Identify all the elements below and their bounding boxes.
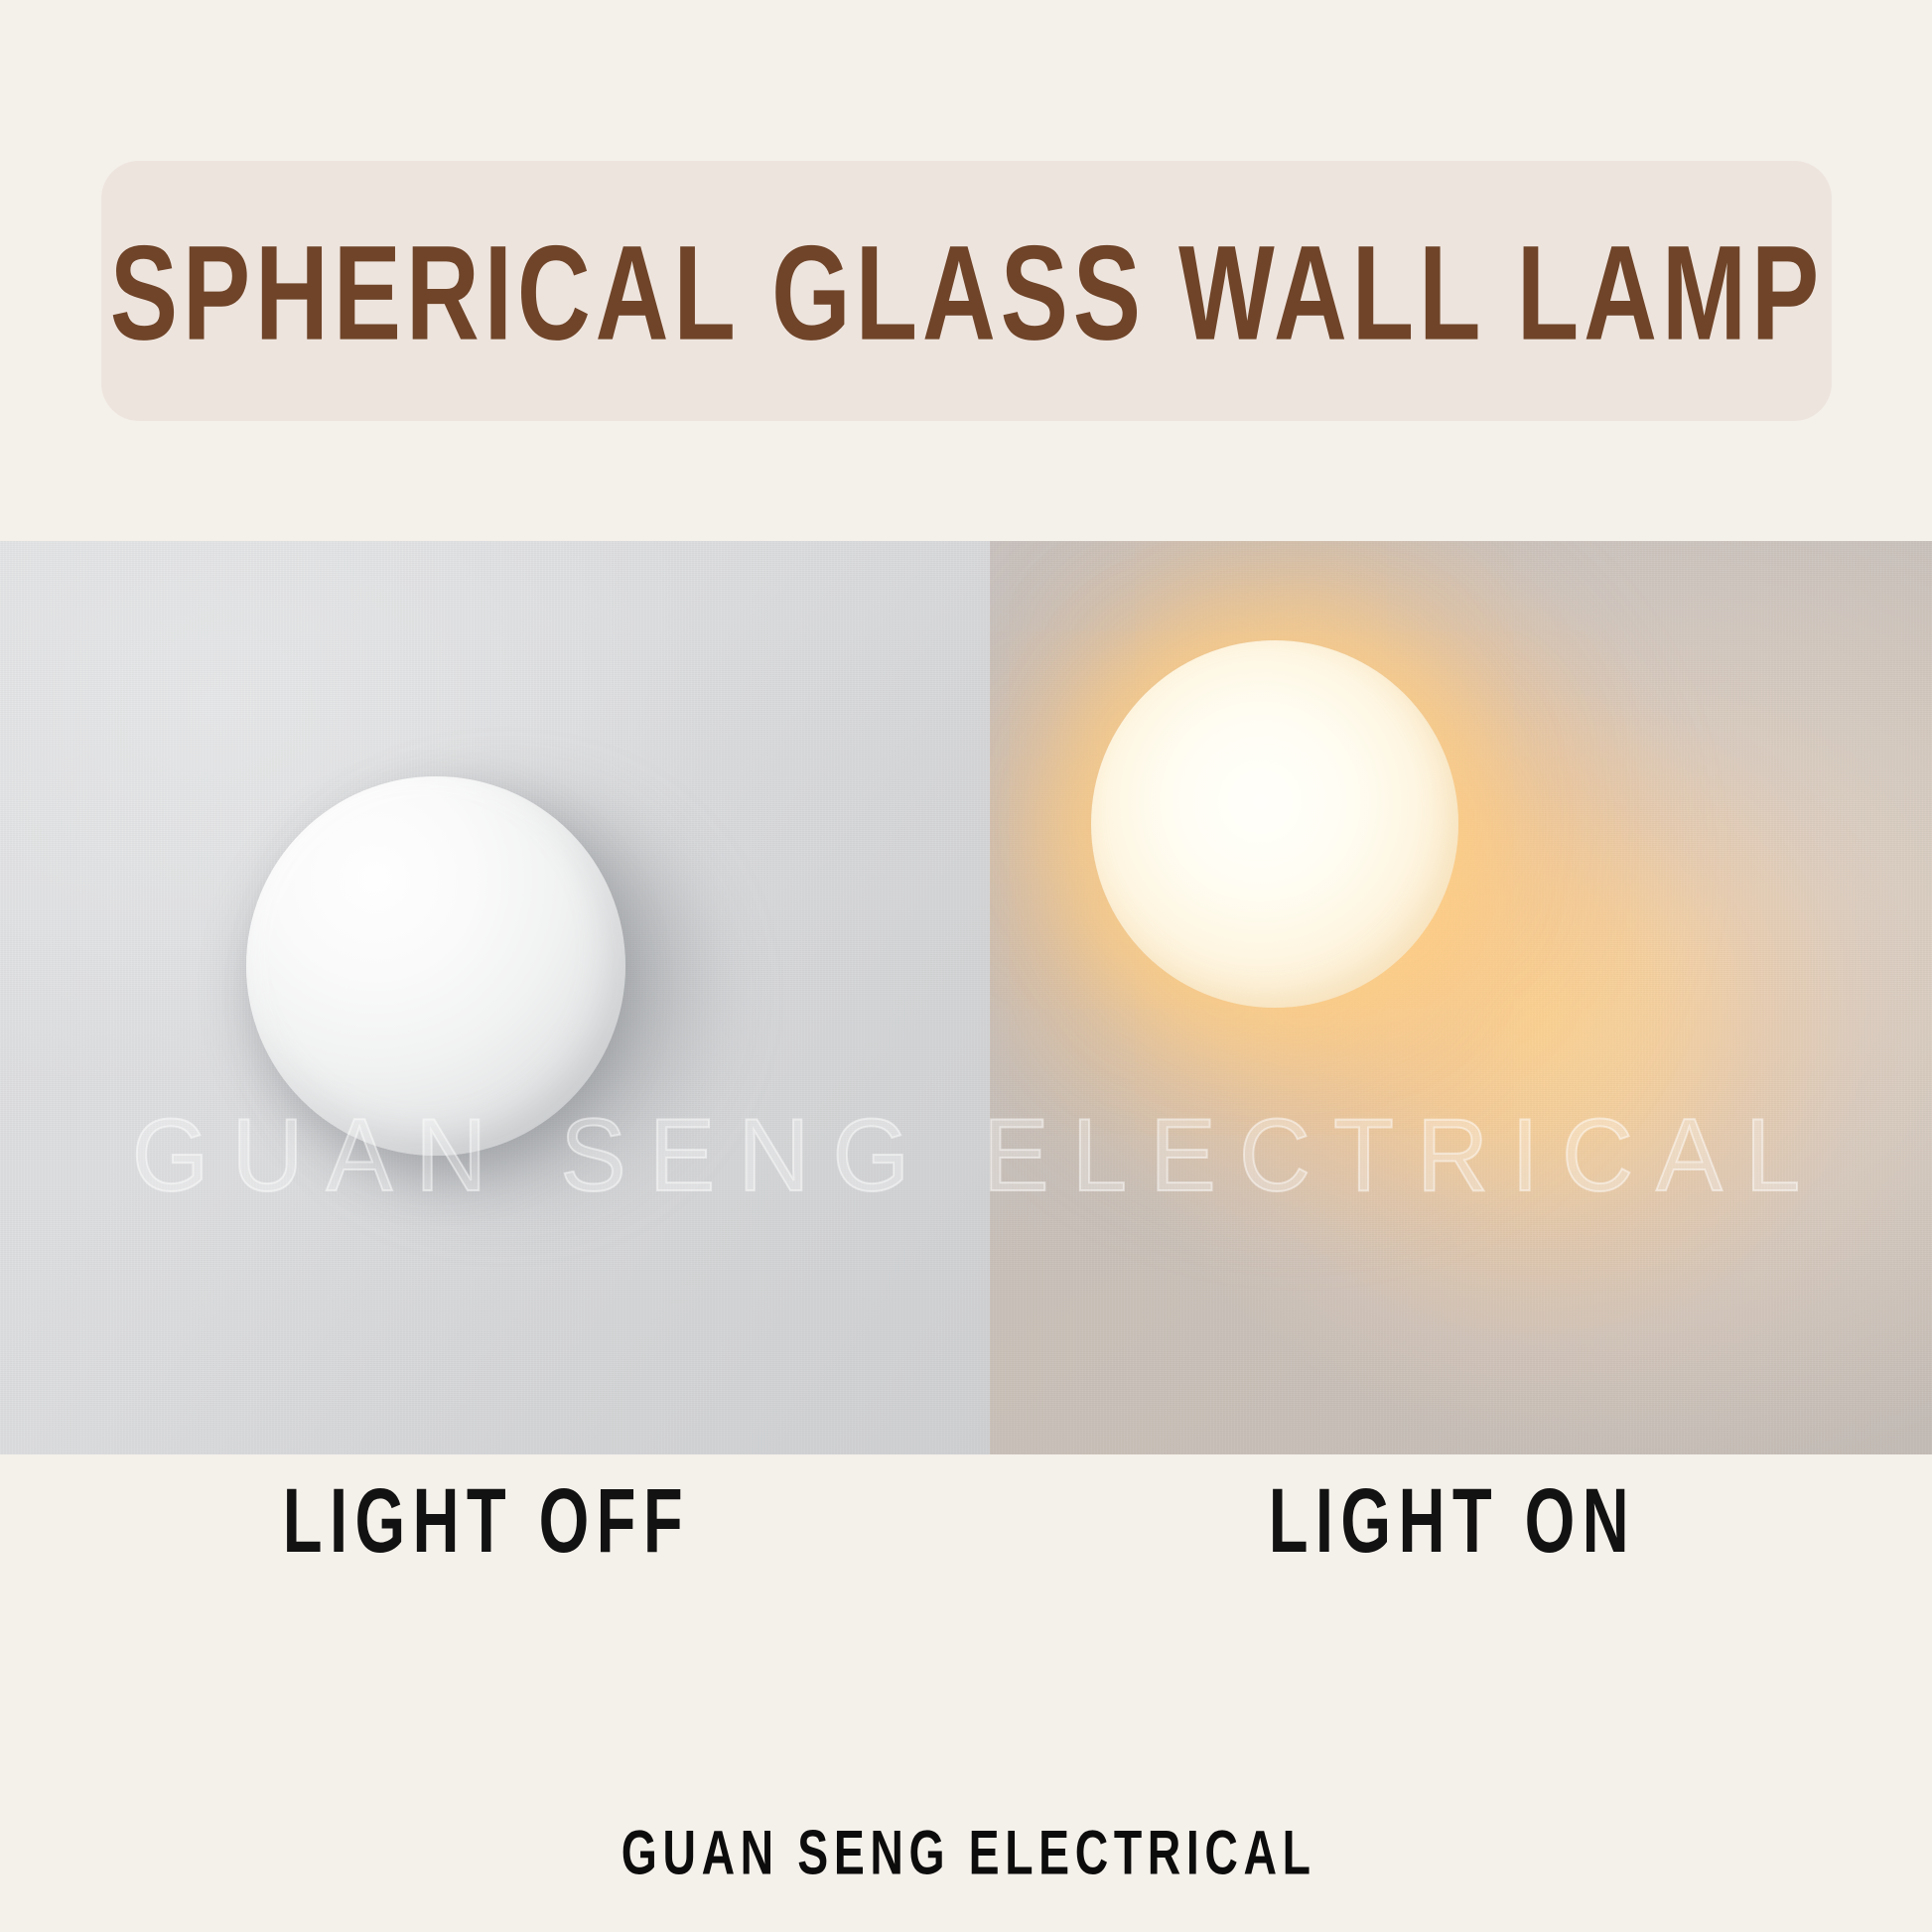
- page-title: SPHERICAL GLASS WALL LAMP: [109, 226, 1823, 361]
- footer-brand-name: GUAN SENG ELECTRICAL: [616, 1823, 1315, 1885]
- state-label-light-off: LIGHT OFF: [276, 1475, 691, 1567]
- glass-globe-off: [246, 776, 625, 1156]
- product-photo-light-off[interactable]: [0, 541, 990, 1454]
- glass-globe-on: [1091, 640, 1458, 1008]
- title-banner: SPHERICAL GLASS WALL LAMP: [101, 161, 1832, 421]
- state-label-cell-off: LIGHT OFF: [0, 1477, 966, 1565]
- product-photo-light-on[interactable]: [990, 541, 1932, 1454]
- state-label-row: LIGHT OFF LIGHT ON: [0, 1477, 1932, 1565]
- state-label-cell-on: LIGHT ON: [966, 1477, 1932, 1565]
- footer: GUAN SENG ELECTRICAL: [0, 1825, 1932, 1882]
- state-label-light-on: LIGHT ON: [1262, 1475, 1637, 1567]
- comparison-image-strip: [0, 541, 1932, 1454]
- product-comparison-card: SPHERICAL GLASS WALL LAMP GUAN SENG ELEC…: [0, 0, 1932, 1932]
